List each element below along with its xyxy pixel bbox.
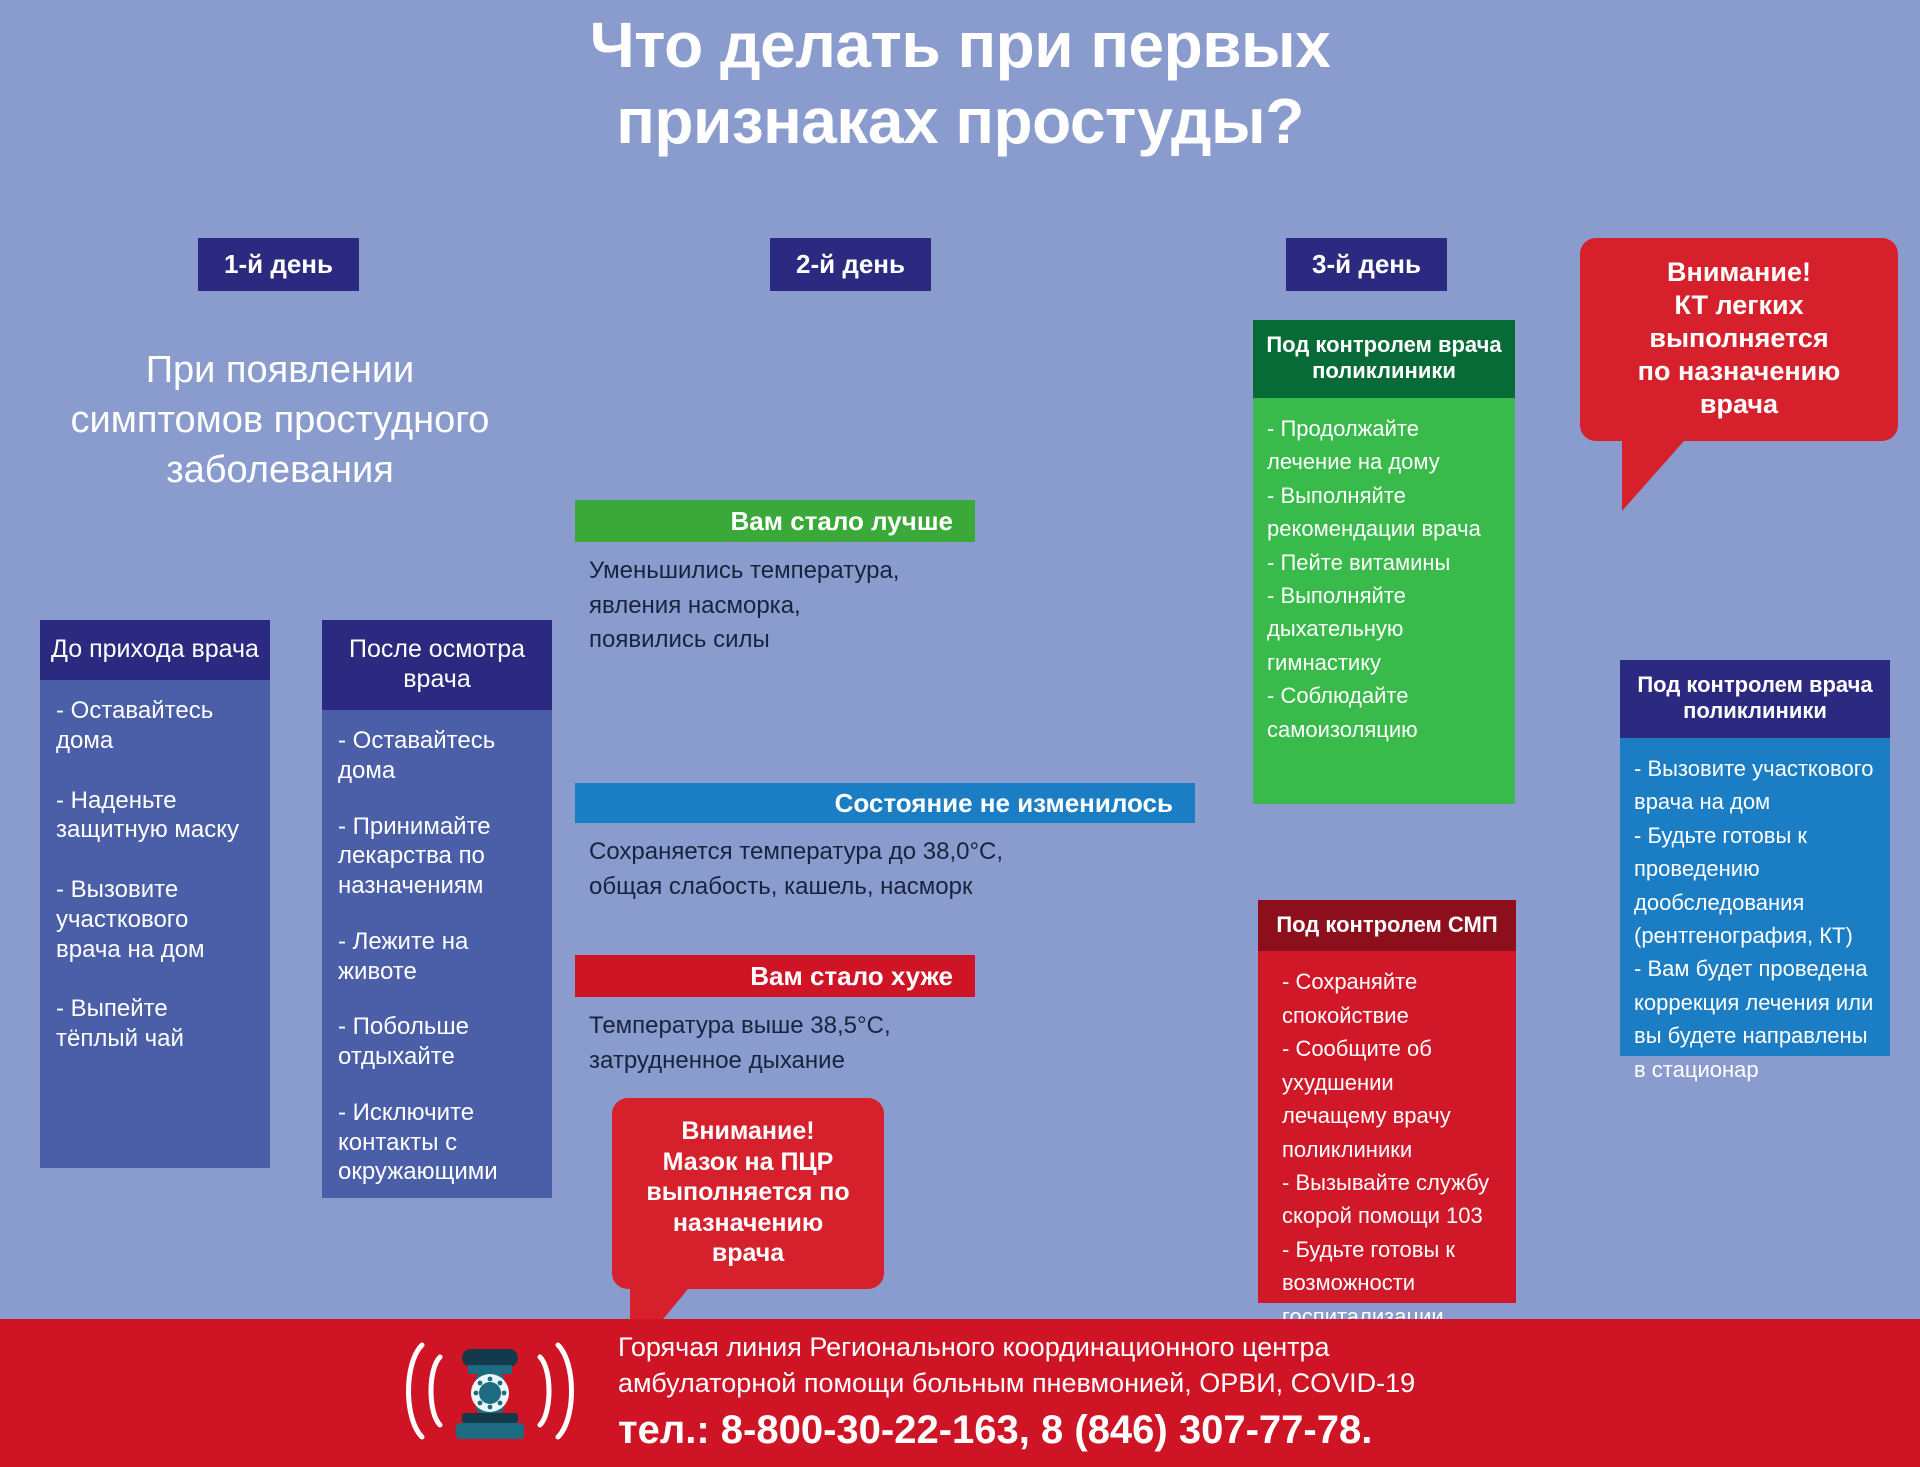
hotline-line-1: Горячая линия Регионального координацион… [618,1330,1415,1366]
arrow-condition-better-label: Вам стало лучше [575,500,975,542]
callout-tail-icon [1622,441,1684,511]
list-item: - Сохраняйте спокойствие [1282,965,1502,1032]
hotline-line-2: амбулаторной помощи больным пневмонией, … [618,1366,1415,1402]
list-item: - Соблюдайте самоизоляцию [1267,679,1501,746]
list-item: - Продолжайте лечение на дому [1267,412,1501,479]
arrow-condition-unchanged-label: Состояние не изменилось [575,783,1195,823]
arrow-condition-better-caption: Уменьшились температура,явления насморка… [575,554,975,658]
list-item: - Оставайтесь дома [56,696,254,756]
hotline-footer: Горячая линия Регионального координацион… [0,1319,1920,1467]
panel-emergency-smp-title: Под контролем СМП [1258,900,1516,951]
arrow-condition-unchanged-caption: Сохраняется температура до 38,0°С,общая … [575,835,1195,904]
list-item: - Побольше отдыхайте [338,1012,536,1072]
panel-clinic-doctor-green: Под контролем врача поликлиники - Продол… [1253,320,1515,804]
list-item: - Вам будет проведена коррекция лечения … [1634,952,1876,1086]
hotline-phone-number: тел.: 8-800-30-22-163, 8 (846) 307-77-78… [618,1404,1415,1456]
panel-emergency-smp: Под контролем СМП - Сохраняйте спокойств… [1258,900,1516,1303]
list-item: - Сообщите об ухудшении лечащему врачу п… [1282,1032,1502,1166]
callout-ct-scan-text: Внимание!КТ легкихвыполняетсяпо назначен… [1580,238,1898,441]
callout-ct-scan: Внимание!КТ легкихвыполняетсяпо назначен… [1580,238,1898,441]
list-item: - Вызовите участкового врача на дом [56,875,254,964]
day-label-2: 2-й день [770,238,931,291]
hotline-text-block: Горячая линия Регионального координацион… [618,1330,1415,1455]
card-after-exam-list: - Оставайтесь дома - Принимайте лекарств… [322,710,552,1198]
card-before-doctor-title: До прихода врача [40,620,270,680]
list-item: - Вызывайте службу скорой помощи 103 [1282,1166,1502,1233]
card-after-exam-title: После осмотра врача [322,620,552,710]
list-item: - Вызовите участкового врача на дом [1634,752,1876,819]
list-item: - Пейте витамины [1267,546,1501,579]
arrow-condition-unchanged: Состояние не изменилось Сохраняется темп… [575,783,1195,904]
callout-pcr-test: Внимание!Мазок на ПЦРвыполняется поназна… [612,1098,884,1289]
arrow-condition-worse-label: Вам стало хуже [575,955,975,997]
panel-clinic-doctor-blue-title: Под контролем врача поликлиники [1620,660,1890,738]
panel-clinic-doctor-blue-list: - Вызовите участкового врача на дом - Бу… [1620,738,1890,1056]
panel-clinic-doctor-blue: Под контролем врача поликлиники - Вызови… [1620,660,1890,1056]
infographic-canvas: Что делать при первыхпризнаках простуды?… [0,0,1920,1467]
arrow-condition-worse: Вам стало хуже Температура выше 38,5°С,з… [575,955,975,1078]
card-before-doctor-list: - Оставайтесь дома - Наденьте защитную м… [40,680,270,1168]
list-item: - Исключите контакты с окружающими [338,1098,536,1187]
intro-heading: При появлении симптомов простудного забо… [60,345,500,495]
list-item: - Выполняйте дыхательную гимнастику [1267,579,1501,679]
arrow-condition-better: Вам стало лучше Уменьшились температура,… [575,500,975,658]
arrow-condition-worse-caption: Температура выше 38,5°С,затрудненное дых… [575,1009,975,1078]
day-label-1: 1-й день [198,238,359,291]
callout-pcr-test-text: Внимание!Мазок на ПЦРвыполняется поназна… [612,1098,884,1289]
telephone-icon [400,1335,580,1452]
list-item: - Наденьте защитную маску [56,786,254,846]
panel-clinic-doctor-green-title: Под контролем врача поликлиники [1253,320,1515,398]
panel-emergency-smp-list: - Сохраняйте спокойствие - Сообщите об у… [1258,951,1516,1303]
page-title: Что делать при первыхпризнаках простуды? [0,8,1920,159]
card-before-doctor: До прихода врача - Оставайтесь дома - На… [40,620,270,1200]
list-item: - Лежите на животе [338,927,536,987]
card-after-exam: После осмотра врача - Оставайтесь дома -… [322,620,552,1200]
list-item: - Оставайтесь дома [338,726,536,786]
list-item: - Будьте готовы к проведению дообследова… [1634,819,1876,953]
list-item: - Выполняйте рекомендации врача [1267,479,1501,546]
panel-clinic-doctor-green-list: - Продолжайте лечение на дому - Выполняй… [1253,398,1515,804]
list-item: - Принимайте лекарства по назначениям [338,812,536,901]
list-item: - Выпейте тёплый чай [56,994,254,1054]
day-label-3: 3-й день [1286,238,1447,291]
